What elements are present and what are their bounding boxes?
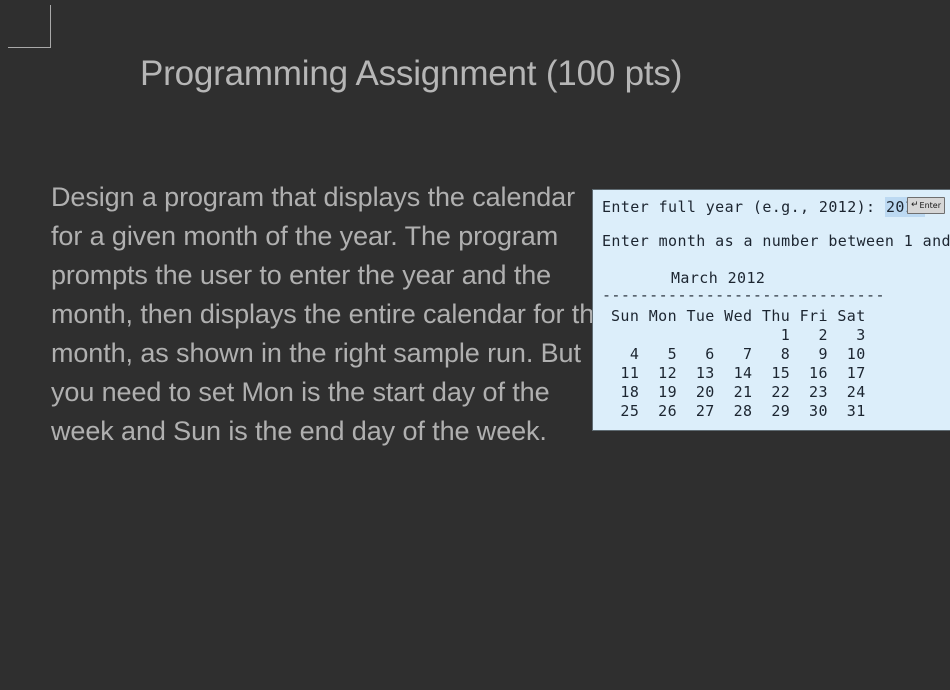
console-prompt-year-label: Enter full year (e.g., 2012): [602, 198, 885, 216]
page-title: Programming Assignment (100 pts) [140, 52, 682, 96]
console-separator-rule: ------------------------------ [602, 286, 885, 305]
console-calendar-week: 1 2 3 [611, 326, 866, 345]
console-prompt-month-line: Enter month as a number between 1 and 1 [602, 232, 950, 251]
console-weekday-header: Sun Mon Tue Wed Thu Fri Sat [611, 307, 866, 326]
enter-arrow-icon: ↵ [911, 201, 919, 210]
console-prompt-year-line: Enter full year (e.g., 2012): 2012 [602, 198, 925, 217]
console-calendar-week: 25 26 27 28 29 30 31 [611, 402, 866, 421]
slide-corner-marker [8, 5, 51, 48]
console-calendar-week: 4 5 6 7 8 9 10 [611, 345, 866, 364]
console-calendar-week: 11 12 13 14 15 16 17 [611, 364, 866, 383]
sample-run-console-image: Enter full year (e.g., 2012): 2012 ↵ Ent… [592, 189, 950, 431]
console-calendar-week: 18 19 20 21 22 23 24 [611, 383, 866, 402]
enter-key-badge[interactable]: ↵ Enter [907, 197, 945, 214]
assignment-description: Design a program that displays the calen… [51, 178, 611, 451]
enter-key-label: Enter [920, 201, 941, 210]
